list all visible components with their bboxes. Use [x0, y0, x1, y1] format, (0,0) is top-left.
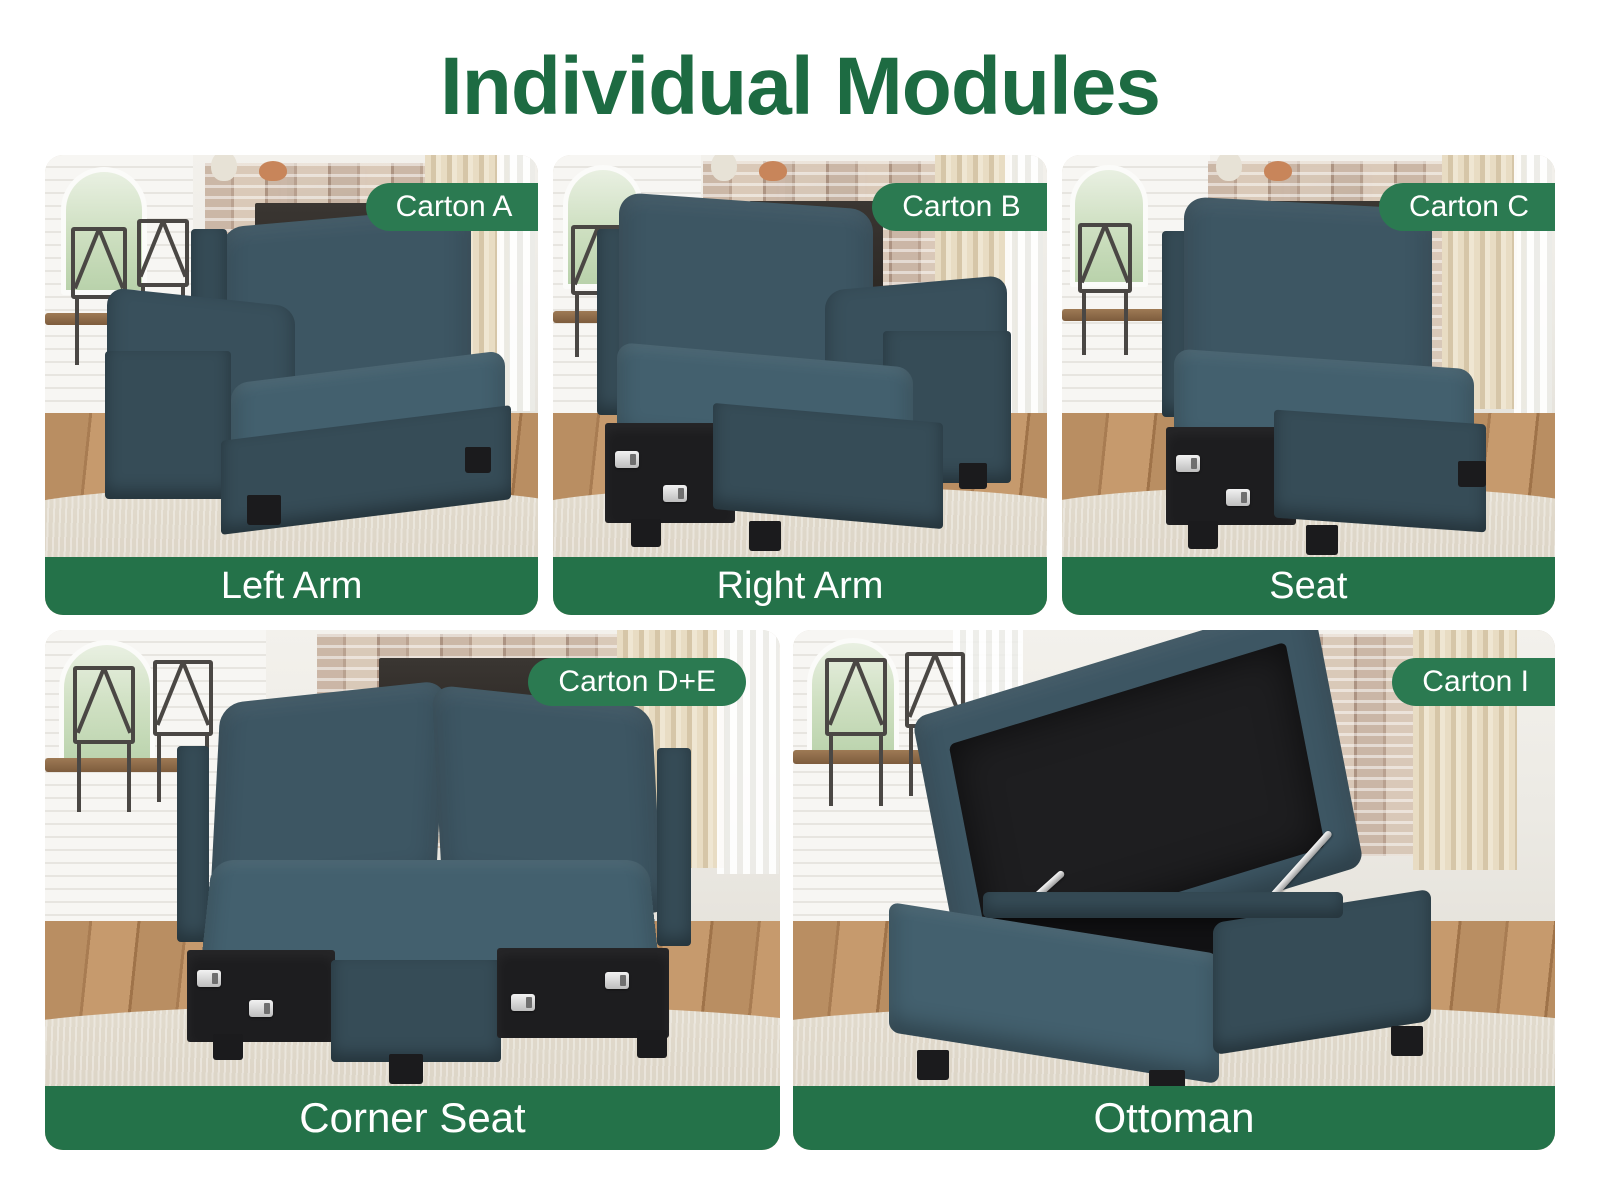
frame-side-panel-left [177, 746, 209, 942]
connector-clip [197, 970, 221, 987]
sofa-foot [631, 519, 661, 547]
decor-vase [711, 155, 737, 181]
module-label: Seat [1062, 557, 1555, 615]
sofa-foot [1458, 461, 1486, 487]
sofa-foot [637, 1030, 667, 1058]
dining-chair [137, 219, 189, 287]
module-card-seat[interactable]: Carton C Seat [1062, 155, 1555, 615]
module-card-corner-seat[interactable]: Carton D+E Corner Seat [45, 630, 780, 1150]
carton-badge: Carton D+E [528, 658, 746, 706]
dining-chair [825, 658, 887, 736]
ottoman-rim-back [983, 892, 1343, 918]
connector-clip [249, 1000, 273, 1017]
module-label: Left Arm [45, 557, 538, 615]
module-card-right-arm[interactable]: Carton B Right Arm [553, 155, 1046, 615]
frame-side-panel-right [657, 748, 691, 946]
ottoman-foot [917, 1050, 949, 1080]
module-label: Right Arm [553, 557, 1046, 615]
module-grid-top-row: Carton A Left Arm [45, 155, 1555, 615]
dining-chair-legs [77, 744, 131, 812]
base-skirt [713, 403, 943, 529]
dining-chair [73, 666, 135, 744]
sofa-foot [247, 495, 281, 525]
sofa-foot [749, 521, 781, 551]
dining-chair-legs [1082, 293, 1128, 355]
ottoman-foot [1391, 1026, 1423, 1056]
carton-badge: Carton I [1392, 658, 1555, 706]
sofa-foot [1188, 521, 1218, 549]
decor-bowl [259, 161, 287, 181]
module-label: Ottoman [793, 1086, 1555, 1150]
base-front-facet [331, 960, 501, 1062]
decor-bowl [759, 161, 787, 181]
connector-base-panel-right [497, 948, 669, 1038]
dining-chair [1078, 223, 1132, 293]
sofa-foot [959, 463, 987, 489]
carton-badge: Carton C [1379, 183, 1555, 231]
decor-vase [1216, 155, 1242, 181]
module-label: Corner Seat [45, 1086, 780, 1150]
decor-bowl [1264, 161, 1292, 181]
dining-chair-legs [829, 736, 883, 806]
decor-vase [211, 155, 237, 181]
connector-clip [1226, 489, 1250, 506]
dining-chair [153, 660, 213, 736]
sofa-foot [1306, 525, 1338, 555]
base-skirt [1274, 410, 1486, 533]
sofa-foot [213, 1034, 243, 1060]
page-title: Individual Modules [0, 0, 1600, 150]
sofa-foot [389, 1054, 423, 1084]
carton-badge: Carton B [872, 183, 1046, 231]
connector-base-panel-left [187, 950, 335, 1042]
module-card-left-arm[interactable]: Carton A Left Arm [45, 155, 538, 615]
left-arm-outer [105, 351, 231, 499]
infographic-page: Individual Modules [0, 0, 1600, 1200]
module-grid-bottom-row: Carton D+E Corner Seat [45, 630, 1555, 1150]
connector-clip [511, 994, 535, 1011]
sofa-foot [465, 447, 491, 473]
connector-clip [663, 485, 687, 502]
connector-clip [605, 972, 629, 989]
connector-clip [1176, 455, 1200, 472]
connector-clip [615, 451, 639, 468]
module-card-ottoman[interactable]: Carton I Ottoman [793, 630, 1555, 1150]
carton-badge: Carton A [366, 183, 539, 231]
